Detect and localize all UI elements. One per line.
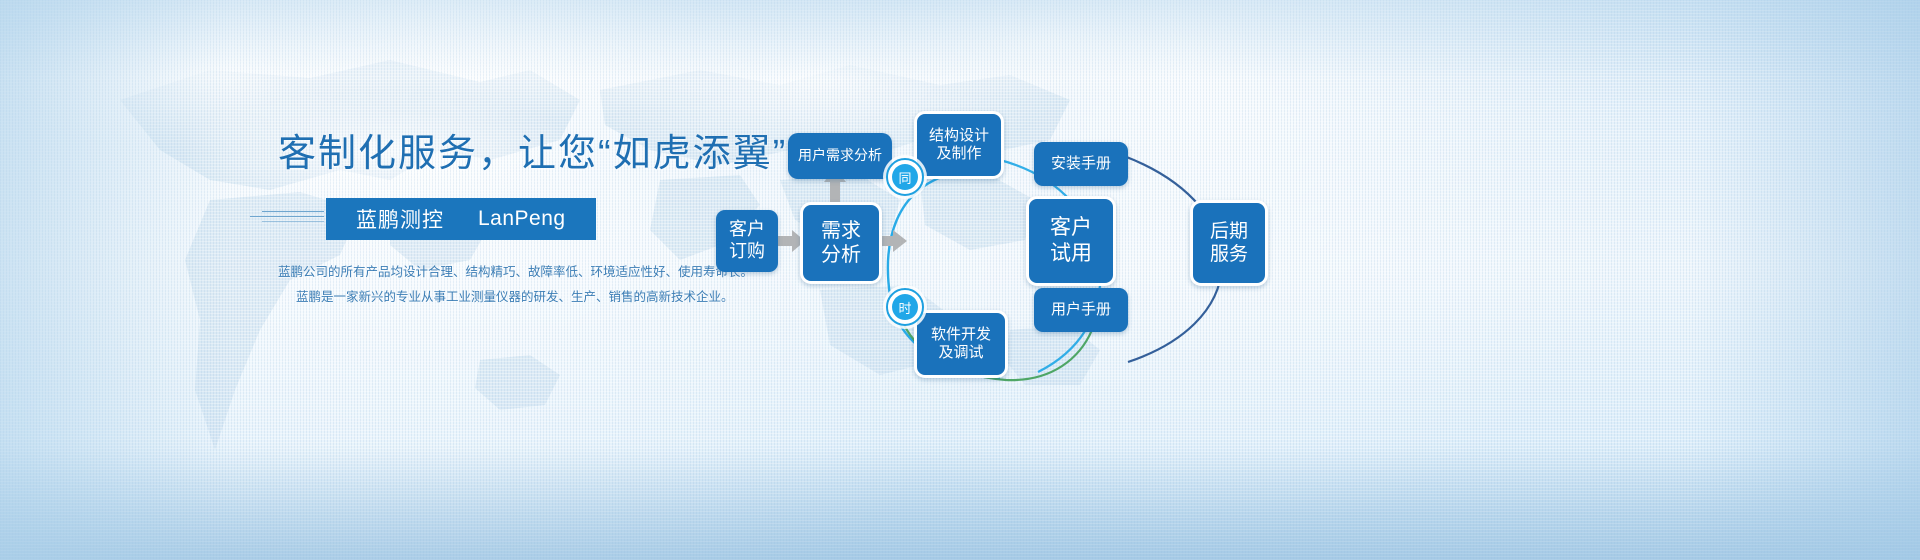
node-customer-order[interactable]: 客户 订购 bbox=[716, 210, 778, 272]
banner-root: 客制化服务，让您“如虎添翼” 蓝鹏测控 LanPeng 蓝鹏公司的所有产品均设计… bbox=[0, 0, 1920, 560]
process-flow-diagram: 用户需求分析 客户 订购 需求 分析 结构设计 及制作 安装手册 客户 试用 用… bbox=[700, 90, 1800, 420]
page-title: 客制化服务，让您“如虎添翼” bbox=[278, 134, 698, 176]
subtitle-line-2: 蓝鹏是一家新兴的专业从事工业测量仪器的研发、生产、销售的高新技术企业。 bbox=[296, 285, 698, 310]
node-software-development[interactable]: 软件开发 及调试 bbox=[914, 310, 1008, 378]
subtitle-line-1: 蓝鹏公司的所有产品均设计合理、结构精巧、故障率低、环境适应性好、使用寿命长。 bbox=[278, 260, 698, 285]
node-customer-trial[interactable]: 客户 试用 bbox=[1026, 196, 1116, 286]
node-after-service[interactable]: 后期 服务 bbox=[1190, 200, 1268, 286]
node-user-manual[interactable]: 用户手册 bbox=[1034, 288, 1128, 332]
node-install-manual[interactable]: 安装手册 bbox=[1034, 142, 1128, 186]
badge-tong-label: 同 bbox=[892, 164, 918, 190]
brand-bar: 蓝鹏测控 LanPeng bbox=[326, 198, 596, 240]
brand-name-en: LanPeng bbox=[478, 207, 566, 231]
badge-tong: 同 bbox=[886, 158, 924, 196]
badge-shi-label: 时 bbox=[892, 294, 918, 320]
brand-name-cn: 蓝鹏测控 bbox=[356, 204, 444, 234]
node-demand-analysis[interactable]: 需求 分析 bbox=[800, 202, 882, 284]
node-user-requirement[interactable]: 用户需求分析 bbox=[788, 133, 892, 179]
badge-shi: 时 bbox=[886, 288, 924, 326]
subtitle-block: 蓝鹏公司的所有产品均设计合理、结构精巧、故障率低、环境适应性好、使用寿命长。 蓝… bbox=[278, 260, 698, 310]
brand-row: 蓝鹏测控 LanPeng bbox=[278, 198, 698, 240]
headline-block: 客制化服务，让您“如虎添翼” 蓝鹏测控 LanPeng 蓝鹏公司的所有产品均设计… bbox=[278, 134, 698, 310]
node-structure-design[interactable]: 结构设计 及制作 bbox=[914, 111, 1004, 179]
decorative-lines bbox=[250, 211, 324, 221]
